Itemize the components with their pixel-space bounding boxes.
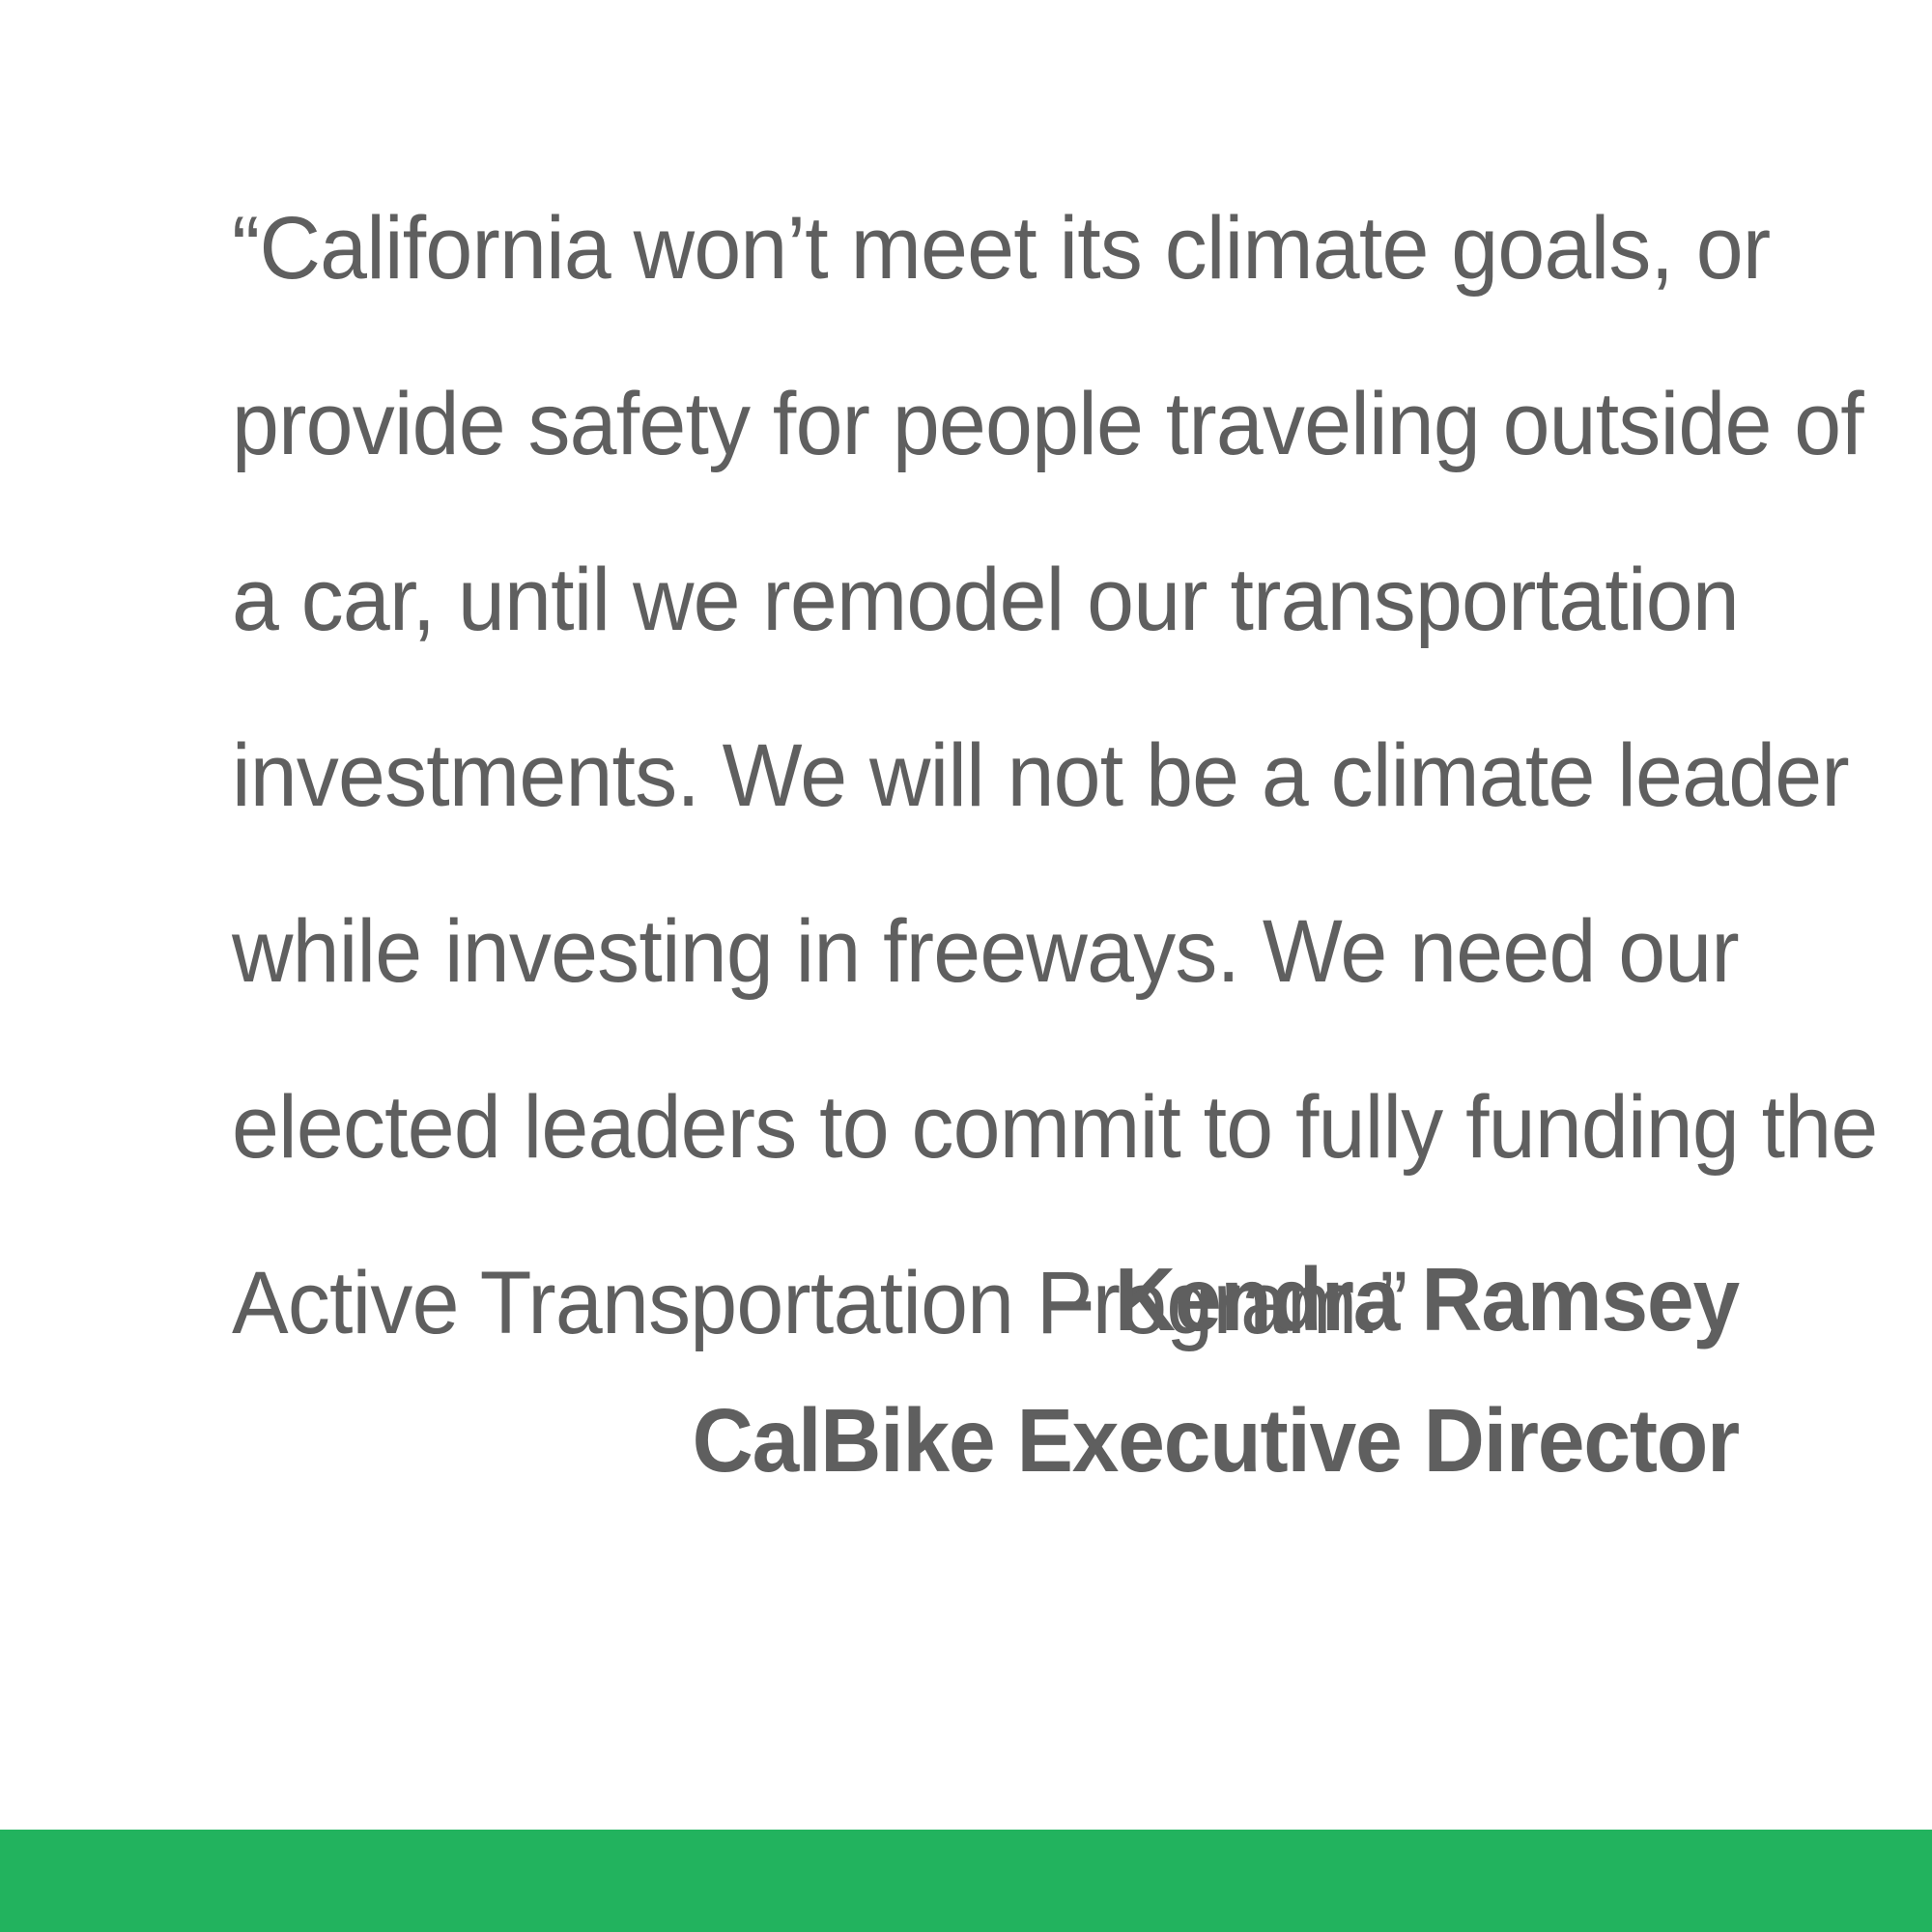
quote-text-block: “California won’t meet its climate goals… — [232, 160, 1781, 1391]
card-body: “California won’t meet its climate goals… — [0, 0, 1932, 1932]
attribution-author-name: – Kendra Ramsey — [286, 1229, 1739, 1370]
quote-line-4: investments. We will not be a climate le… — [232, 688, 1712, 864]
quote-line-3: a car, until we remodel our transportati… — [232, 512, 1712, 688]
quote-line-1: “California won’t meet its climate goals… — [232, 160, 1712, 336]
quote-line-2: provide safety for people traveling outs… — [232, 336, 1712, 512]
attribution-author-title: CalBike Executive Director — [286, 1370, 1739, 1511]
attribution-block: – Kendra Ramsey CalBike Executive Direct… — [193, 1229, 1739, 1511]
quote-line-5: while investing in freeways. We need our — [232, 864, 1712, 1039]
footer-accent-bar — [0, 1830, 1932, 1932]
quote-card: “California won’t meet its climate goals… — [0, 0, 1932, 1932]
quote-line-6: elected leaders to commit to fully fundi… — [232, 1039, 1712, 1215]
